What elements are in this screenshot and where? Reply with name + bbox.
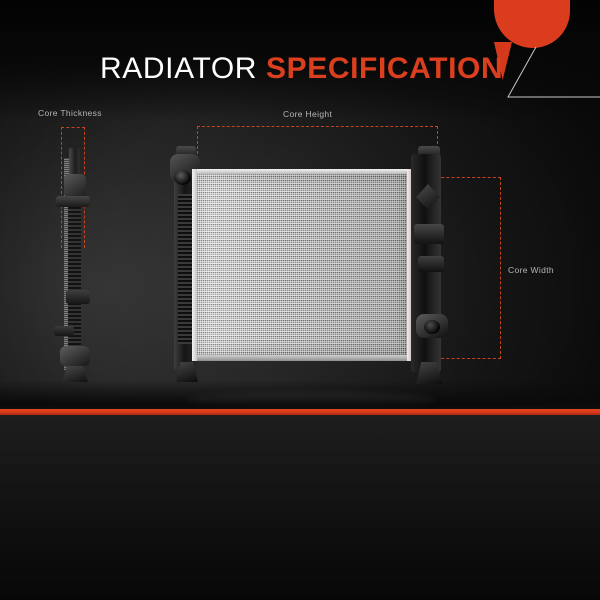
core-bottom-cap — [194, 355, 410, 361]
title-primary: RADIATOR — [100, 52, 257, 85]
core-top-cap — [194, 169, 410, 174]
side-outlet-port — [60, 346, 90, 366]
radiator-core — [196, 173, 408, 356]
right-bracket-middle — [414, 224, 444, 244]
radiator-side-view — [44, 140, 100, 385]
side-bracket-middle — [66, 290, 90, 304]
title-accent: SPECIFICATION — [266, 52, 503, 85]
page-title: RADIATOR SPECIFICATION — [100, 52, 503, 86]
side-bracket-upper — [56, 196, 90, 207]
inlet-port-opening — [174, 170, 191, 185]
outlet-port-opening — [424, 320, 440, 334]
core-shading — [196, 173, 408, 356]
right-bracket-lower — [418, 256, 444, 272]
radiator-reflection — [186, 392, 436, 408]
side-bracket-lower — [54, 326, 74, 336]
radiator-specification-page: RADIATOR SPECIFICATION Core Thickness Co… — [0, 0, 600, 600]
label-core-height: Core Height — [283, 109, 332, 119]
label-core-thickness: Core Thickness — [38, 108, 102, 118]
core-left-cap — [192, 169, 197, 361]
radiator-front-view — [168, 146, 458, 386]
side-inlet-neck — [64, 174, 86, 198]
label-core-width: Core Width — [508, 265, 554, 275]
left-tank-ribs — [178, 194, 192, 344]
specification-panel: Core Height : 24.96 in Core Width : 20.2… — [0, 415, 600, 600]
